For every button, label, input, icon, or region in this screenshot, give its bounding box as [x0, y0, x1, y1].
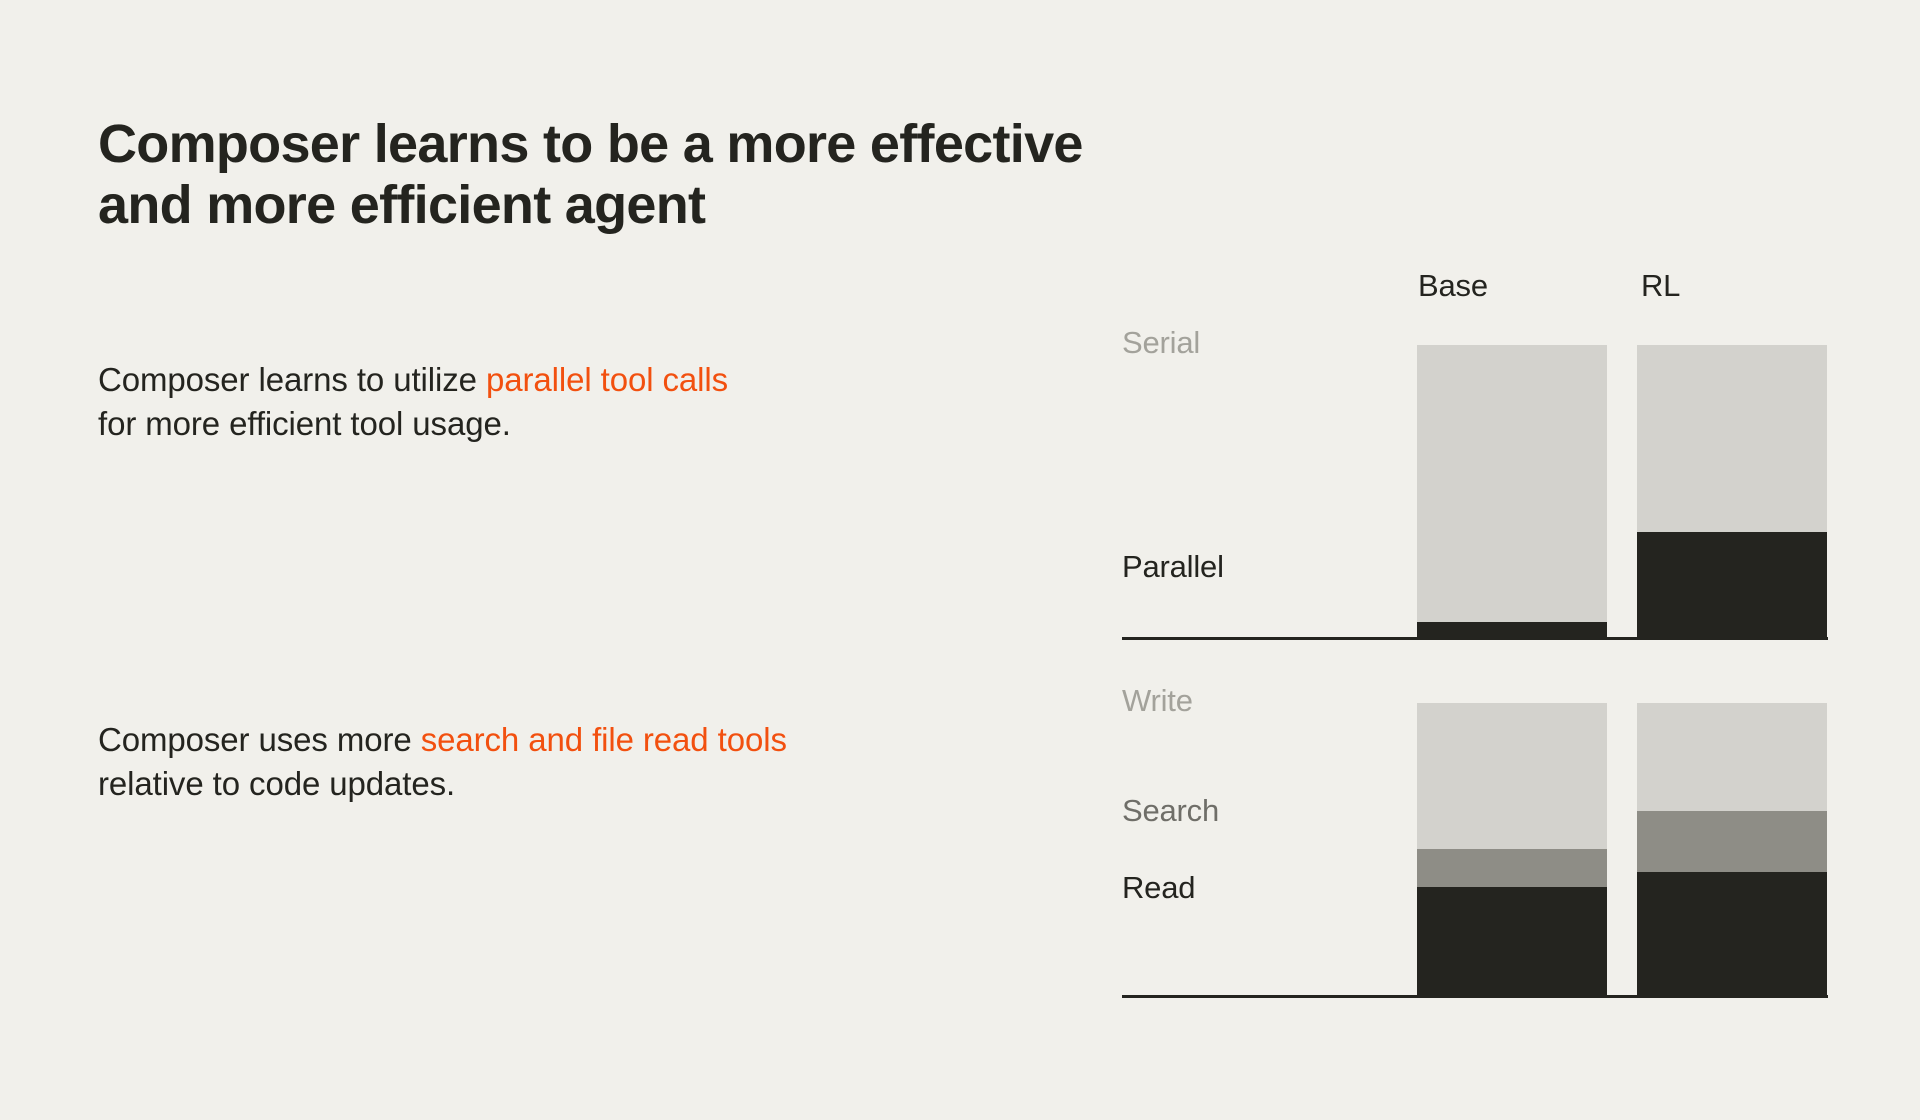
chart1-bar-rl	[1637, 345, 1827, 637]
chart2-bar-rl-segment-read	[1637, 872, 1827, 995]
paragraph-1-line-1: Composer learns to utilize parallel tool…	[98, 358, 998, 402]
chart2-bar-base-segment-search	[1417, 849, 1607, 887]
charts-region: Base RL Serial Parallel Write Search Rea…	[1122, 0, 1842, 1120]
paragraph-2-line2-text: relative to code updates.	[98, 765, 455, 802]
chart2-baseline-axis	[1122, 995, 1828, 998]
chart-column-header-base: Base	[1418, 268, 1488, 304]
chart-tool-usage-mix: Write Search Read	[1122, 703, 1842, 1003]
page-title: Composer learns to be a more effective a…	[98, 114, 1128, 235]
paragraph-1-highlight: parallel tool calls	[486, 361, 728, 398]
chart2-bar-rl-segment-write	[1637, 703, 1827, 811]
paragraph-2-line-2: relative to code updates.	[98, 762, 998, 806]
body-paragraph-search-read-tools: Composer uses more search and file read …	[98, 718, 998, 806]
chart1-bar-base	[1417, 345, 1607, 637]
chart-tool-call-parallelism: Serial Parallel	[1122, 345, 1842, 645]
paragraph-2-line-1: Composer uses more search and file read …	[98, 718, 998, 762]
body-paragraph-parallel-tools: Composer learns to utilize parallel tool…	[98, 358, 998, 446]
chart1-bar-rl-segment-serial	[1637, 345, 1827, 532]
chart-column-header-rl: RL	[1641, 268, 1680, 304]
chart1-bar-base-segment-parallel	[1417, 622, 1607, 637]
chart2-bar-base-segment-read	[1417, 887, 1607, 995]
chart2-bar-base	[1417, 703, 1607, 995]
paragraph-2-highlight: search and file read tools	[421, 721, 787, 758]
chart2-bar-rl	[1637, 703, 1827, 995]
chart2-plot-area	[1122, 703, 1828, 995]
chart2-bar-base-segment-write	[1417, 703, 1607, 849]
paragraph-1-line2-text: for more efficient tool usage.	[98, 405, 511, 442]
chart1-bar-base-segment-serial	[1417, 345, 1607, 622]
paragraph-1-text-pre: Composer learns to utilize	[98, 361, 486, 398]
chart1-bar-rl-segment-parallel	[1637, 532, 1827, 637]
chart1-plot-area	[1122, 345, 1828, 637]
chart1-baseline-axis	[1122, 637, 1828, 640]
page-title-line-2: and more efficient agent	[98, 175, 1128, 235]
chart2-bar-rl-segment-search	[1637, 811, 1827, 872]
page-title-line-1: Composer learns to be a more effective	[98, 114, 1128, 174]
paragraph-1-line-2: for more efficient tool usage.	[98, 402, 998, 446]
paragraph-2-text-pre: Composer uses more	[98, 721, 421, 758]
